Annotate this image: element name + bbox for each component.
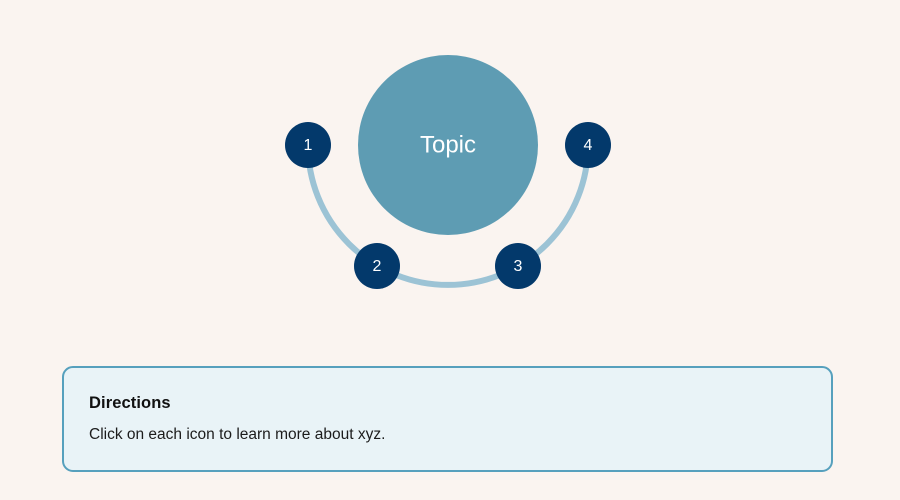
diagram-node-1[interactable]: 1 (285, 122, 331, 168)
slide-canvas: Topic 1 2 3 4 Directions (0, 0, 900, 500)
directions-callout: Directions Click on each icon to learn m… (62, 366, 833, 472)
directions-title: Directions (89, 394, 171, 413)
diagram-node-4[interactable]: 4 (565, 122, 611, 168)
node-2-label: 2 (373, 258, 382, 275)
node-3-label: 3 (514, 258, 523, 275)
diagram-node-3[interactable]: 3 (495, 243, 541, 289)
node-1-label: 1 (304, 137, 313, 154)
node-4-label: 4 (584, 137, 593, 154)
directions-body-text: Click on each icon to learn more about x… (89, 426, 385, 444)
topic-label: Topic (420, 131, 476, 158)
topic-diagram: Topic 1 2 3 4 (0, 0, 900, 330)
diagram-node-2[interactable]: 2 (354, 243, 400, 289)
